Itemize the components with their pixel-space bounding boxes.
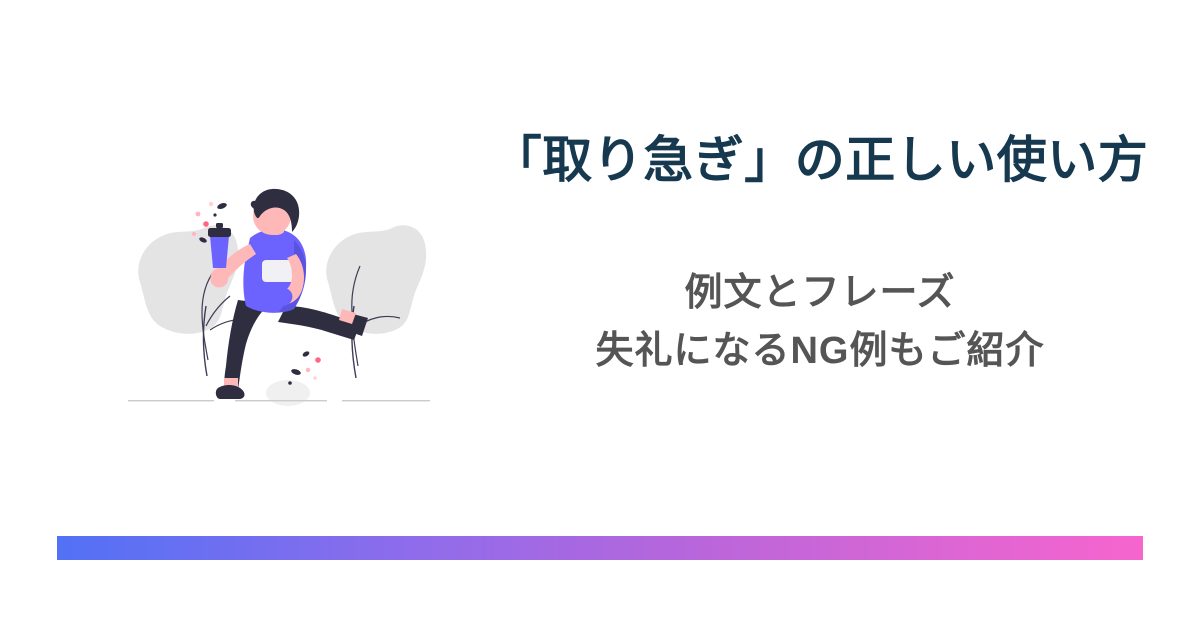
ground-line xyxy=(128,400,430,401)
text-block: 「取り急ぎ」の正しい使い方 例文とフレーズ 失礼になるNG例もご紹介 xyxy=(470,130,1170,381)
page-title: 「取り急ぎ」の正しい使い方 xyxy=(470,130,1170,191)
accent-gradient-bar xyxy=(57,536,1143,560)
runner-front-leg xyxy=(216,300,270,399)
confetti-lower xyxy=(288,350,321,384)
page-subtitle-line-2: 失礼になるNG例もご紹介 xyxy=(470,323,1170,381)
runner-neck xyxy=(268,226,284,235)
page-subtitle: 例文とフレーズ 失礼になるNG例もご紹介 xyxy=(470,191,1170,381)
running-person-with-coffee-illustration xyxy=(110,178,450,430)
eyecatch-card: 「取り急ぎ」の正しい使い方 例文とフレーズ 失礼になるNG例もご紹介 xyxy=(0,0,1200,628)
right-bush-icon xyxy=(326,225,426,378)
page-subtitle-line-1: 例文とフレーズ xyxy=(470,265,1170,323)
runner-shadow xyxy=(266,380,310,406)
